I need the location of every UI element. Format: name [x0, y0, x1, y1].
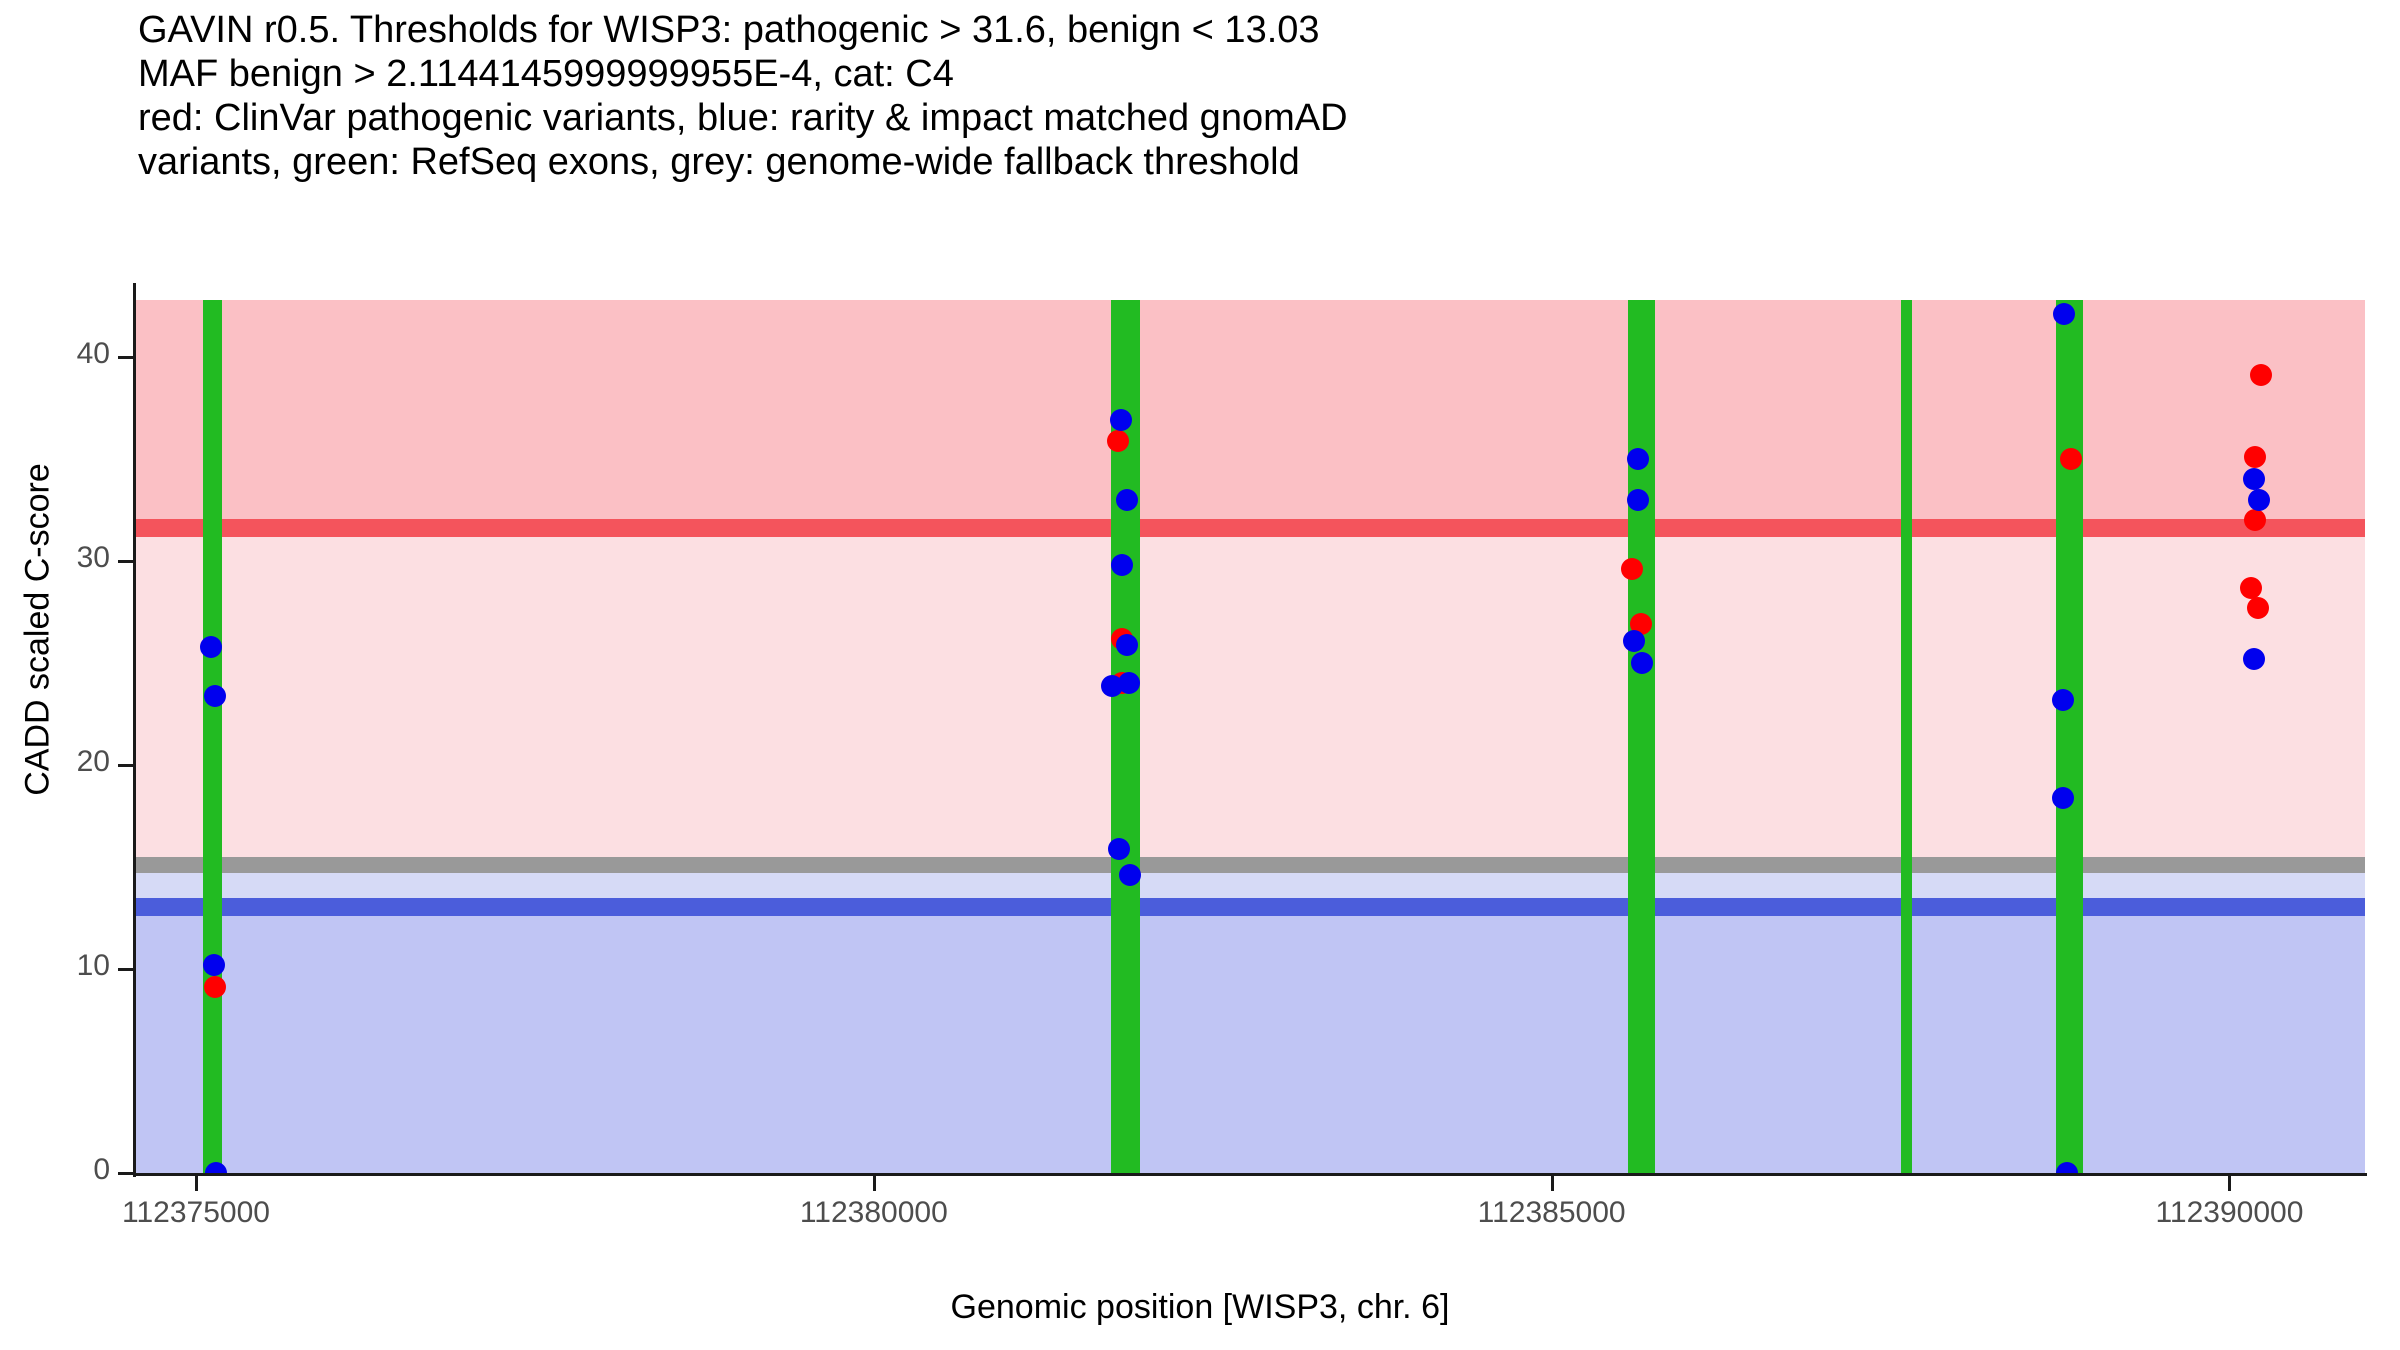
gnomad-variant-point [2052, 787, 2074, 809]
gnomad-variant-point [1110, 409, 1132, 431]
gnomad-variant-point [2248, 489, 2270, 511]
gnomad-variant-point [203, 954, 225, 976]
x-axis-title: Genomic position [WISP3, chr. 6] [700, 1288, 1700, 1327]
clinvar-variant-point [2250, 364, 2272, 386]
gnomad-variant-point [1108, 838, 1130, 860]
chart-root: GAVIN r0.5. Thresholds for WISP3: pathog… [0, 0, 2400, 1350]
clinvar-variant-point [1107, 430, 1129, 452]
plot-panel [135, 300, 2365, 1173]
pathogenic-threshold-line [135, 519, 2365, 537]
clinvar-variant-point [1621, 558, 1643, 580]
exon-bar [203, 300, 222, 1173]
y-axis-tick [118, 356, 134, 359]
x-axis-tick-label: 112385000 [1402, 1196, 1702, 1230]
exon-bar [2056, 300, 2083, 1173]
title-line-3: red: ClinVar pathogenic variants, blue: … [138, 96, 2338, 140]
exon-bar [1628, 300, 1655, 1173]
exon-bar [1901, 300, 1912, 1173]
y-axis-line [133, 283, 136, 1177]
y-axis-title: CADD scaled C-score [19, 280, 58, 980]
y-axis-tick [118, 560, 134, 563]
gnomad-variant-point [1118, 672, 1140, 694]
x-axis-tick-label: 112375000 [46, 1196, 346, 1230]
clinvar-variant-point [2247, 597, 2269, 619]
title-line-1: GAVIN r0.5. Thresholds for WISP3: pathog… [138, 8, 2338, 52]
gnomad-variant-point [1116, 634, 1138, 656]
x-axis-tick [2228, 1176, 2231, 1191]
x-axis-line [133, 1173, 2367, 1176]
gnomad-variant-point [1623, 630, 1645, 652]
title-line-4: variants, green: RefSeq exons, grey: gen… [138, 140, 2338, 184]
x-axis-tick-label: 112380000 [724, 1196, 1024, 1230]
benign-threshold-line [135, 898, 2365, 916]
x-axis-tick [1551, 1176, 1554, 1191]
y-axis-tick [118, 764, 134, 767]
gnomad-variant-point [2243, 648, 2265, 670]
x-axis-tick [195, 1176, 198, 1191]
pathogenic-band [135, 300, 2365, 528]
x-axis-tick [873, 1176, 876, 1191]
chart-title-block: GAVIN r0.5. Thresholds for WISP3: pathog… [138, 8, 2338, 184]
gnomad-variant-point [204, 685, 226, 707]
gnomad-variant-point [2052, 689, 2074, 711]
title-line-2: MAF benign > 2.1144145999999955E-4, cat:… [138, 52, 2338, 96]
gnomad-variant-point [200, 636, 222, 658]
gnomad-variant-point [1111, 554, 1133, 576]
clinvar-variant-point [2240, 577, 2262, 599]
y-axis-tick-label: 0 [0, 1153, 110, 1187]
clinvar-variant-point [2060, 448, 2082, 470]
benign-band [135, 907, 2365, 1173]
fallback-threshold-line [135, 857, 2365, 873]
x-axis-tick-label: 112390000 [2079, 1196, 2379, 1230]
y-axis-tick [118, 1172, 134, 1175]
intermediate-band [135, 528, 2365, 865]
y-axis-tick [118, 968, 134, 971]
